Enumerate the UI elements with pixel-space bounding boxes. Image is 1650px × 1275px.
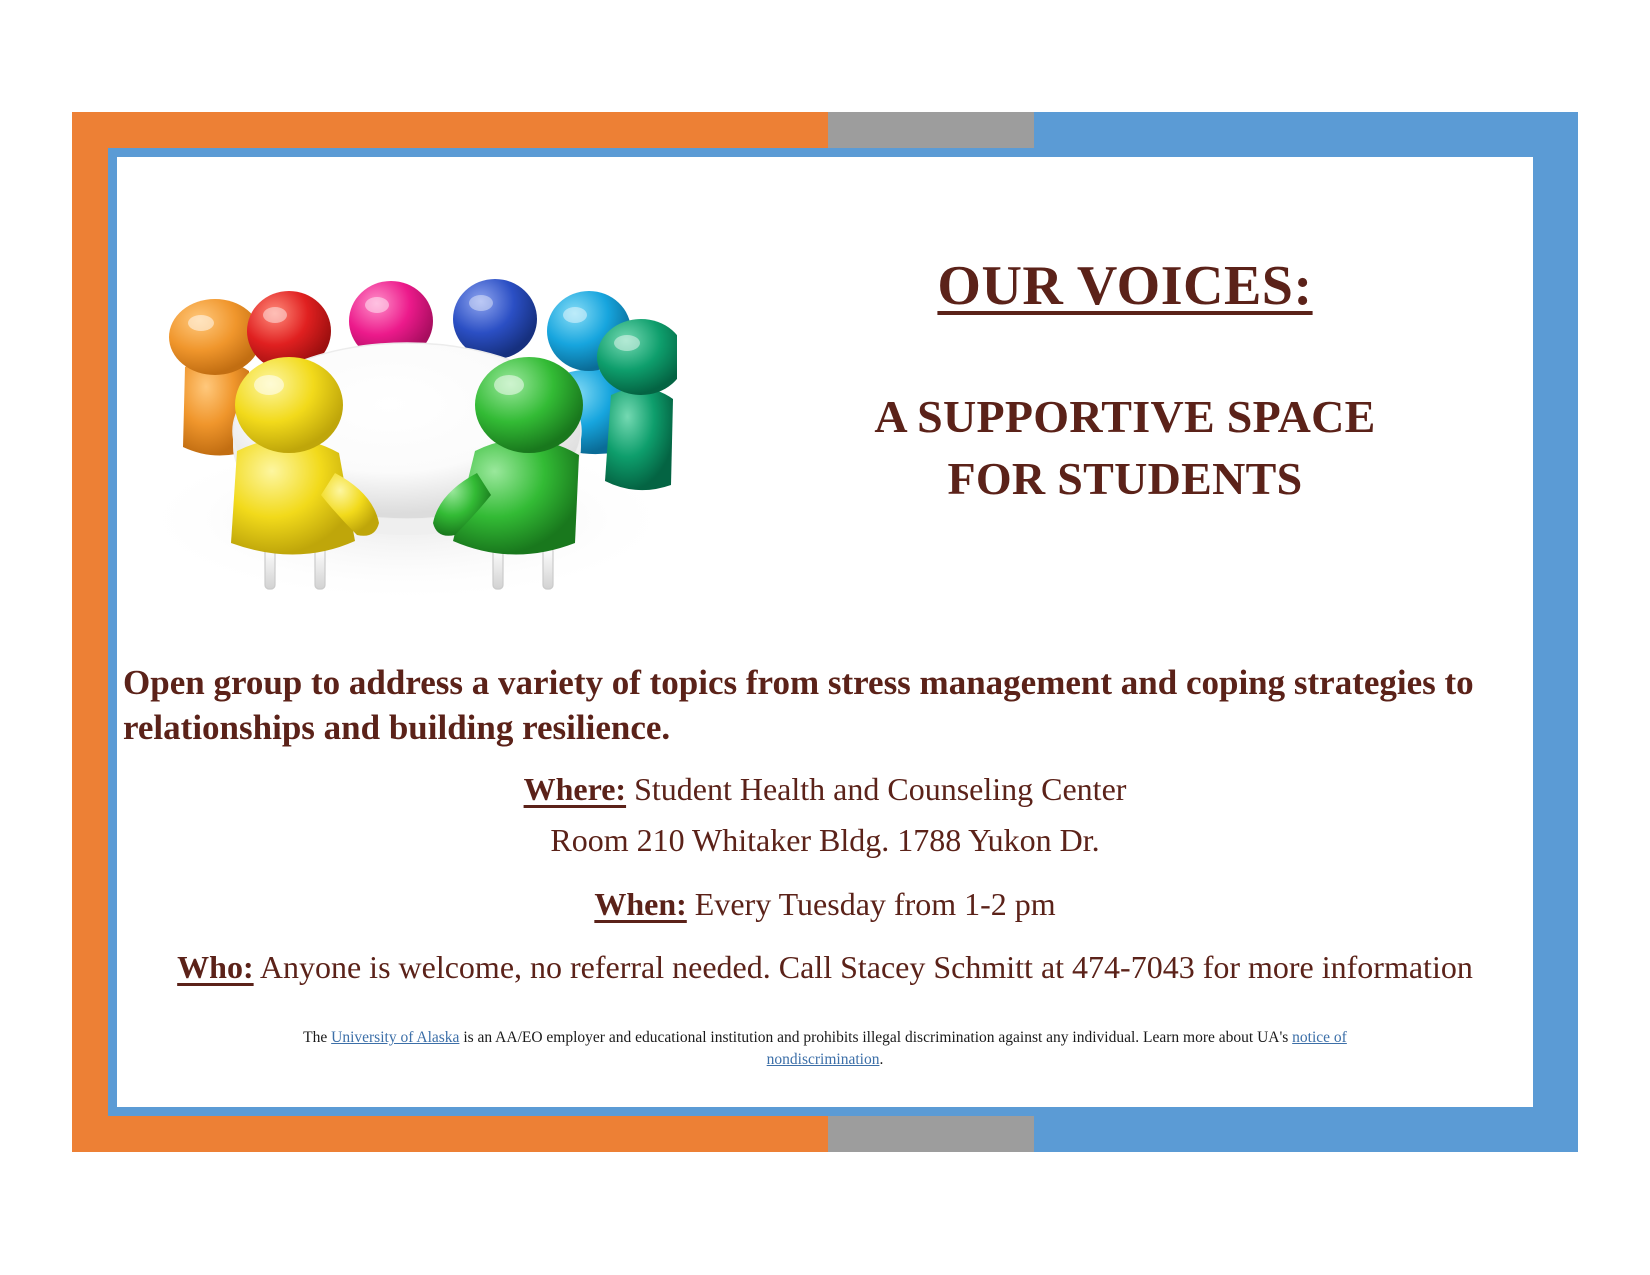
border-segment-orange-bottom xyxy=(72,1116,828,1152)
detail-when-value: Every Tuesday from 1-2 pm xyxy=(687,886,1056,922)
page-subtitle-line1: A SUPPORTIVE SPACE xyxy=(717,386,1533,448)
detail-who-label: Who: xyxy=(177,949,253,985)
detail-who-value: Anyone is welcome, no referral needed. C… xyxy=(254,949,1473,985)
detail-who: Who: Anyone is welcome, no referral need… xyxy=(117,943,1533,993)
detail-when-label: When: xyxy=(594,886,686,922)
university-of-alaska-link[interactable]: University of Alaska xyxy=(331,1029,459,1046)
header-row: OUR VOICES: A SUPPORTIVE SPACE FOR STUDE… xyxy=(117,157,1533,637)
poster-headings: OUR VOICES: A SUPPORTIVE SPACE FOR STUDE… xyxy=(717,157,1533,510)
page-title: OUR VOICES: xyxy=(717,257,1533,316)
detail-where: Where: Student Health and Counseling Cen… xyxy=(117,765,1533,815)
page-subtitle-line2: FOR STUDENTS xyxy=(717,448,1533,510)
border-segment-orange-top xyxy=(72,112,828,148)
disclaimer-part1: The xyxy=(303,1029,331,1046)
page-subtitle: A SUPPORTIVE SPACE FOR STUDENTS xyxy=(717,386,1533,510)
detail-address: Room 210 Whitaker Bldg. 1788 Yukon Dr. xyxy=(117,816,1533,866)
disclaimer-part2: is an AA/EO employer and educational ins… xyxy=(459,1029,1292,1046)
detail-address-value: Room 210 Whitaker Bldg. 1788 Yukon Dr. xyxy=(550,822,1099,858)
disclaimer-part3: . xyxy=(879,1051,883,1068)
border-band-top xyxy=(72,112,1578,148)
border-band-bottom xyxy=(72,1116,1578,1152)
border-side-left-orange xyxy=(72,112,108,1152)
poster-content: OUR VOICES: A SUPPORTIVE SPACE FOR STUDE… xyxy=(117,157,1533,1107)
poster-frame: OUR VOICES: A SUPPORTIVE SPACE FOR STUDE… xyxy=(72,112,1578,1152)
border-segment-blue-bottom xyxy=(1034,1116,1578,1152)
border-segment-gray-bottom xyxy=(828,1116,1034,1152)
page-title-text: OUR VOICES: xyxy=(937,255,1312,317)
detail-where-value: Student Health and Counseling Center xyxy=(626,771,1126,807)
detail-when: When: Every Tuesday from 1-2 pm xyxy=(117,880,1533,930)
detail-where-label: Where: xyxy=(524,771,626,807)
people-around-table-clipart xyxy=(137,219,677,599)
border-segment-gray-top xyxy=(828,112,1034,148)
nondiscrimination-disclaimer: The University of Alaska is an AA/EO emp… xyxy=(117,1027,1533,1072)
lead-paragraph: Open group to address a variety of topic… xyxy=(117,661,1533,751)
border-side-right-blue xyxy=(1542,112,1578,1152)
border-segment-blue-top xyxy=(1034,112,1578,148)
poster-body: Open group to address a variety of topic… xyxy=(117,661,1533,1072)
